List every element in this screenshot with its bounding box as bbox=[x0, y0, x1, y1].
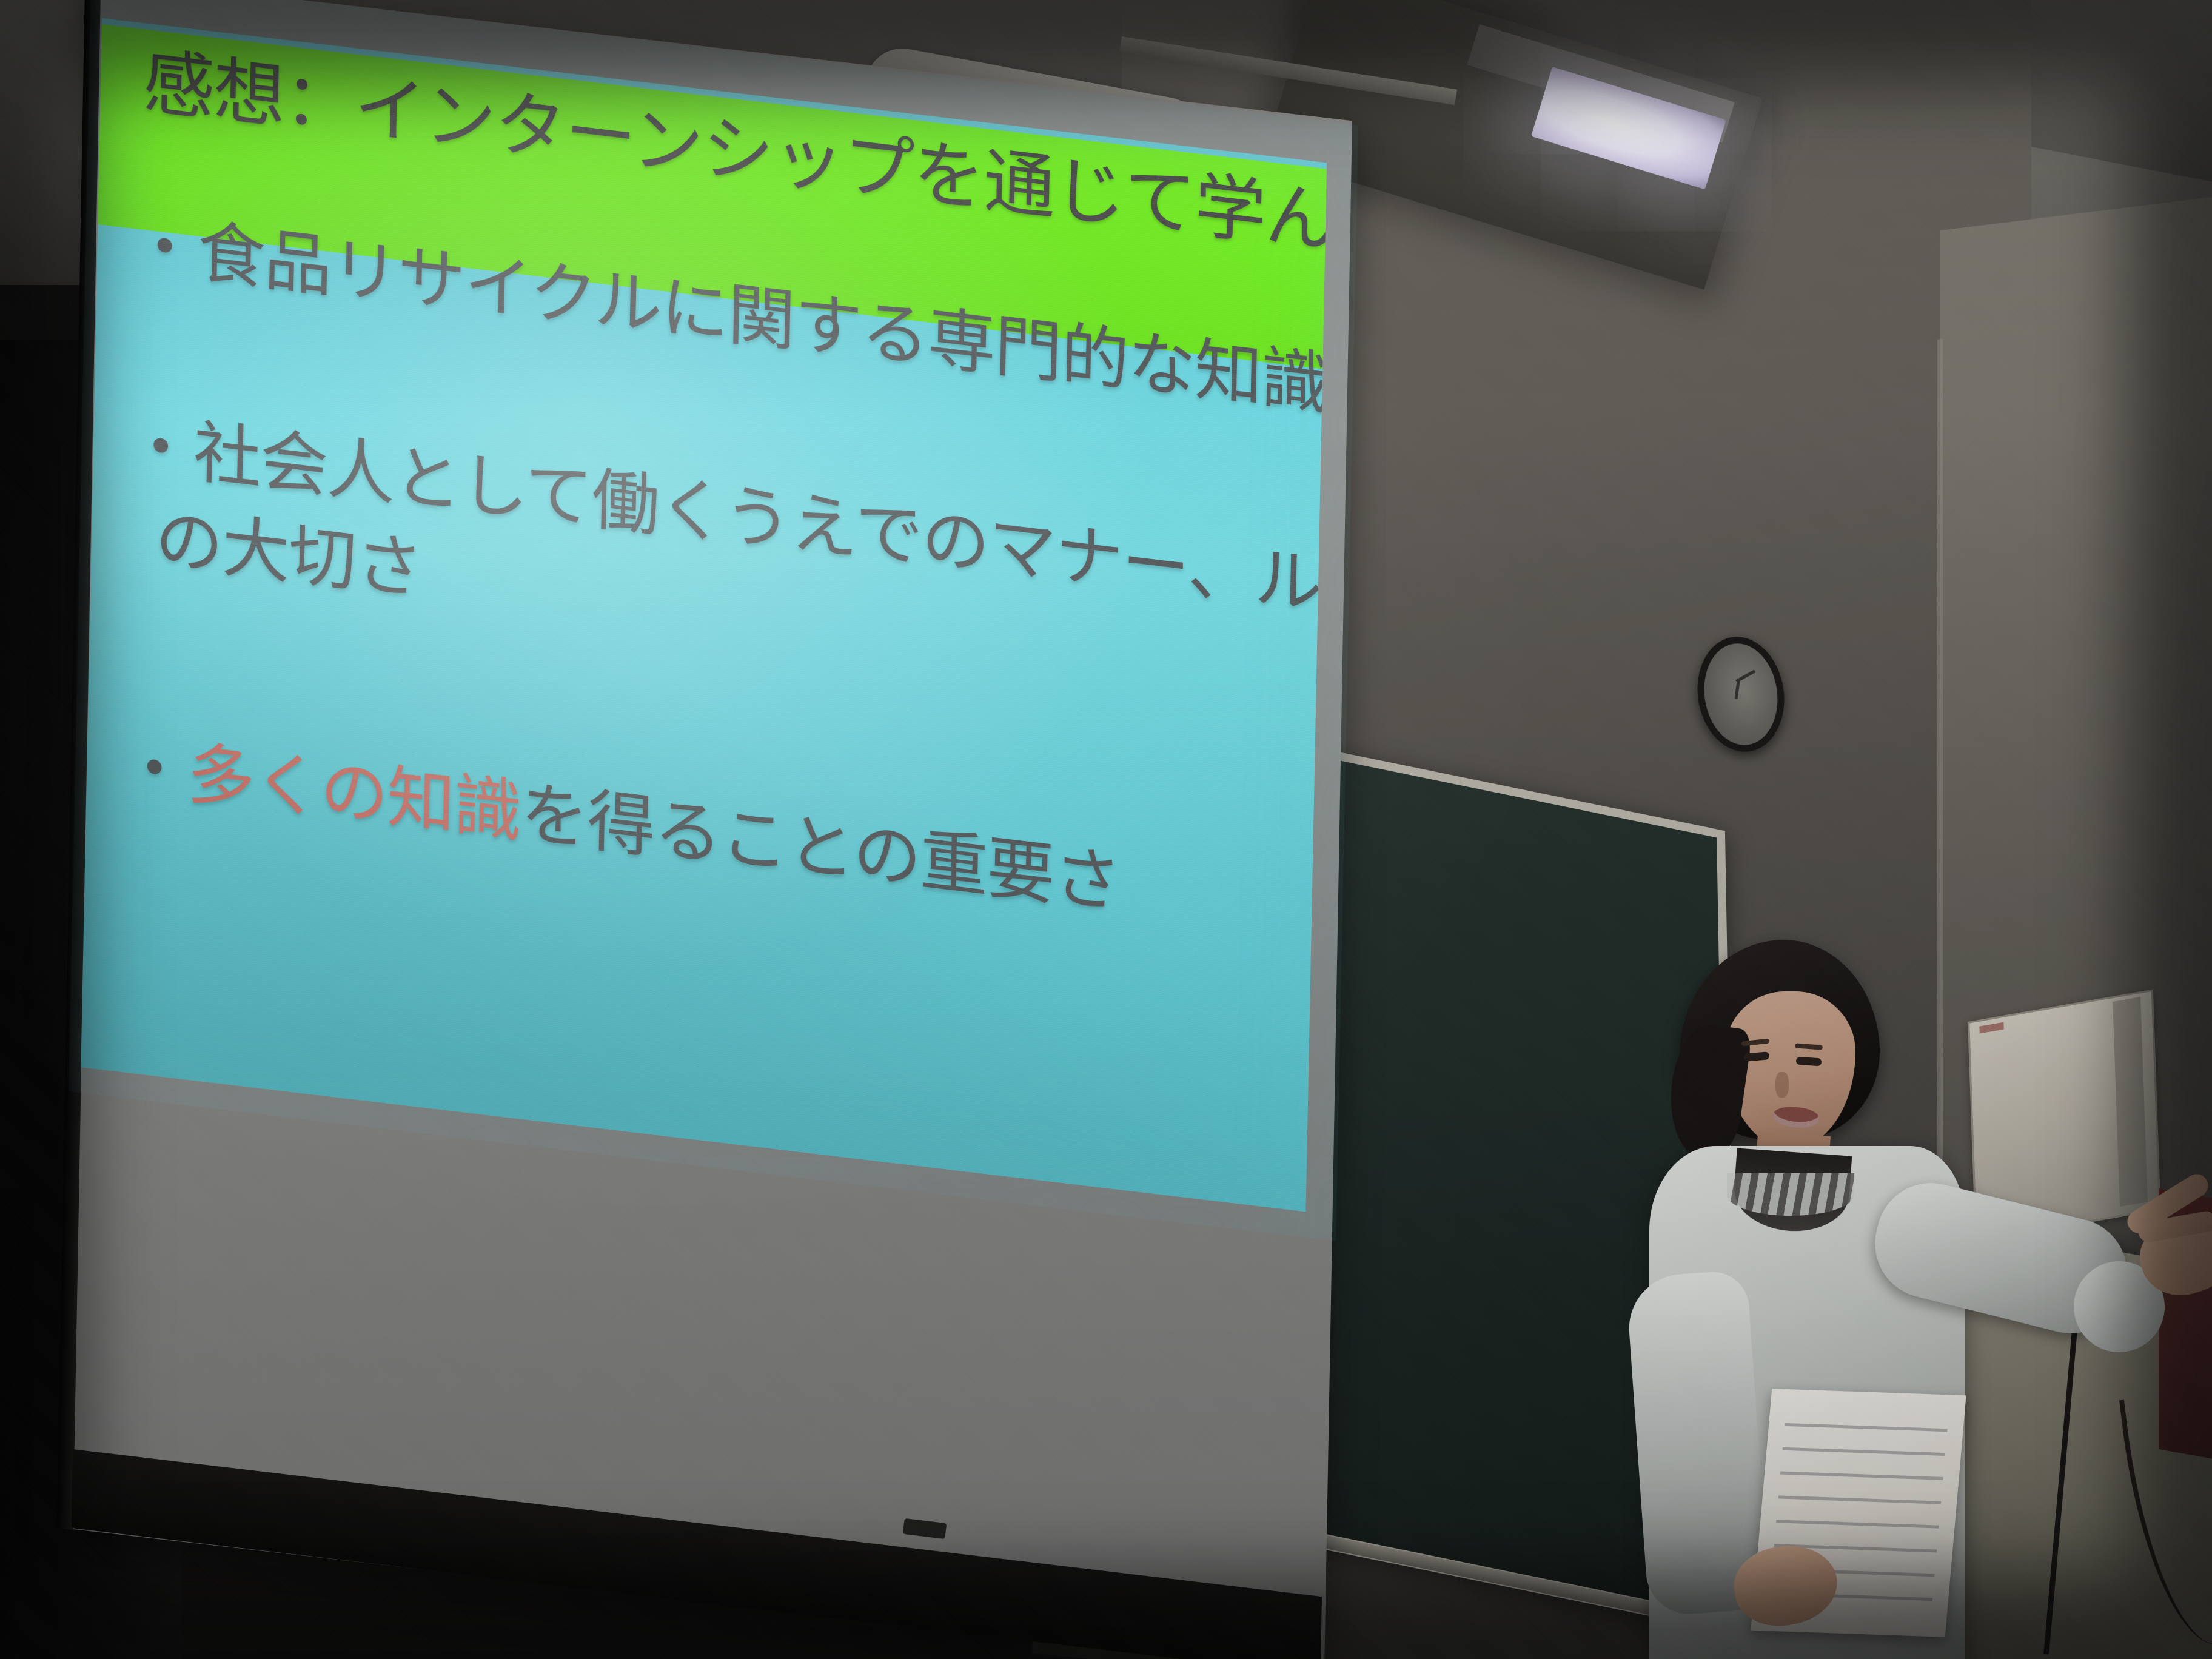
bullet-text: の大切さ bbox=[155, 500, 423, 608]
clock-hand-hour bbox=[1734, 679, 1740, 699]
projected-slide: 感想：インターンシップを通じて学んだことなど ・食品リサイクルに関する専門的な知… bbox=[81, 18, 1327, 1212]
slide-bullet-3: ・多くの知識を得ることの重要さ bbox=[119, 725, 1121, 923]
bullet-text: を得ることの重要さ bbox=[520, 774, 1121, 921]
bullet-marker: ・ bbox=[119, 727, 187, 811]
photo-scene: 感想：インターンシップを通じて学んだことなど ・食品リサイクルに関する専門的な知… bbox=[0, 0, 2212, 1659]
handout-line bbox=[1785, 1423, 1948, 1432]
presenter-nose bbox=[1775, 1072, 1789, 1098]
bullet-marker: ・ bbox=[130, 206, 198, 289]
handout-line bbox=[1783, 1447, 1946, 1456]
presenter-hand-pointing bbox=[2116, 1164, 2212, 1298]
presenter bbox=[1613, 934, 2212, 1659]
bullet-marker: ・ bbox=[126, 406, 195, 489]
presenter-collar-trim bbox=[1727, 1173, 1854, 1216]
handout-line bbox=[1776, 1520, 1939, 1528]
handout-line bbox=[1780, 1472, 1943, 1480]
projection-screen: 感想：インターンシップを通じて学んだことなど ・食品リサイクルに関する専門的な知… bbox=[0, 0, 1395, 1659]
bullet-highlight-text: 多くの知識 bbox=[186, 735, 521, 850]
handout-line bbox=[1778, 1495, 1942, 1504]
slide-body: ・食品リサイクルに関する専門的な知識 ・社会人として働くうえでのマナー、ルール等… bbox=[81, 218, 1322, 1212]
slide-bullet-2-continued: の大切さ bbox=[155, 498, 423, 610]
presenter-hair-side bbox=[1662, 1021, 1752, 1163]
